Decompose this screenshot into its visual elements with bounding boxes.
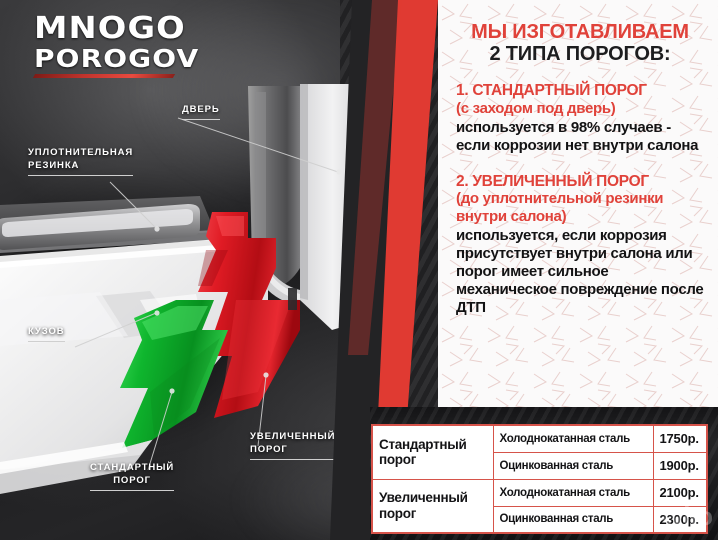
- callout-body: КУЗОВ: [28, 326, 65, 342]
- logo-underline-accent: [33, 74, 175, 78]
- callout-seal: УПЛОТНИТЕЛЬНАЯ РЕЗИНКА: [28, 147, 133, 176]
- block-2-body: используется, если коррозия присутствует…: [456, 227, 704, 317]
- price-row-price: 2100р.: [653, 479, 707, 506]
- price-row-price: 2300р.: [653, 506, 707, 533]
- block-2-subtitle: (до уплотнительной резинки внутри салона…: [456, 190, 704, 225]
- headline-line-red: МЫ ИЗГОТАВЛИВАЕМ: [456, 22, 704, 44]
- info-block-standard: 1. СТАНДАРТНЫЙ ПОРОГ (с заходом под двер…: [456, 82, 704, 154]
- price-row-name-enlarged: Увеличенный порог: [372, 479, 493, 533]
- logo-line-2: POROGOV: [34, 46, 199, 71]
- price-table: Стандартный порог Холоднокатанная сталь …: [371, 424, 708, 534]
- info-panel: МЫ ИЗГОТАВЛИВАЕМ 2 ТИПА ПОРОГОВ: 1. СТАН…: [438, 0, 718, 407]
- price-row-name-standard: Стандартный порог: [372, 425, 493, 479]
- table-row: Стандартный порог Холоднокатанная сталь …: [372, 425, 707, 452]
- price-row-material: Холоднокатанная сталь: [493, 479, 653, 506]
- price-row-material: Оцинкованная сталь: [493, 506, 653, 533]
- callout-door: ДВЕРЬ: [182, 104, 220, 120]
- panel-headline: МЫ ИЗГОТАВЛИВАЕМ 2 ТИПА ПОРОГОВ:: [456, 22, 704, 65]
- block-2-title: 2. УВЕЛИЧЕННЫЙ ПОРОГ: [456, 173, 704, 191]
- info-block-enlarged: 2. УВЕЛИЧЕННЫЙ ПОРОГ (до уплотнительной …: [456, 173, 704, 317]
- price-row-price: 1900р.: [653, 452, 707, 479]
- table-row: Увеличенный порог Холоднокатанная сталь …: [372, 479, 707, 506]
- price-row-material: Оцинкованная сталь: [493, 452, 653, 479]
- price-row-material: Холоднокатанная сталь: [493, 425, 653, 452]
- callout-enlarged-sill: УВЕЛИЧЕННЫЙ ПОРОГ: [250, 431, 335, 460]
- headline-line-black: 2 ТИПА ПОРОГОВ:: [456, 44, 704, 66]
- block-1-title: 1. СТАНДАРТНЫЙ ПОРОГ: [456, 82, 704, 100]
- callout-standard-sill: СТАНДАРТНЫЙ ПОРОГ: [90, 462, 174, 491]
- poster-root: MNOGO POROGOV: [0, 0, 718, 540]
- logo-line-1: MNOGO: [34, 14, 199, 44]
- block-1-body: используется в 98% случаев - если корроз…: [456, 119, 704, 155]
- brand-logo[interactable]: MNOGO POROGOV: [34, 14, 182, 78]
- price-row-price: 1750р.: [653, 425, 707, 452]
- block-1-subtitle: (с заходом под дверь): [456, 100, 704, 118]
